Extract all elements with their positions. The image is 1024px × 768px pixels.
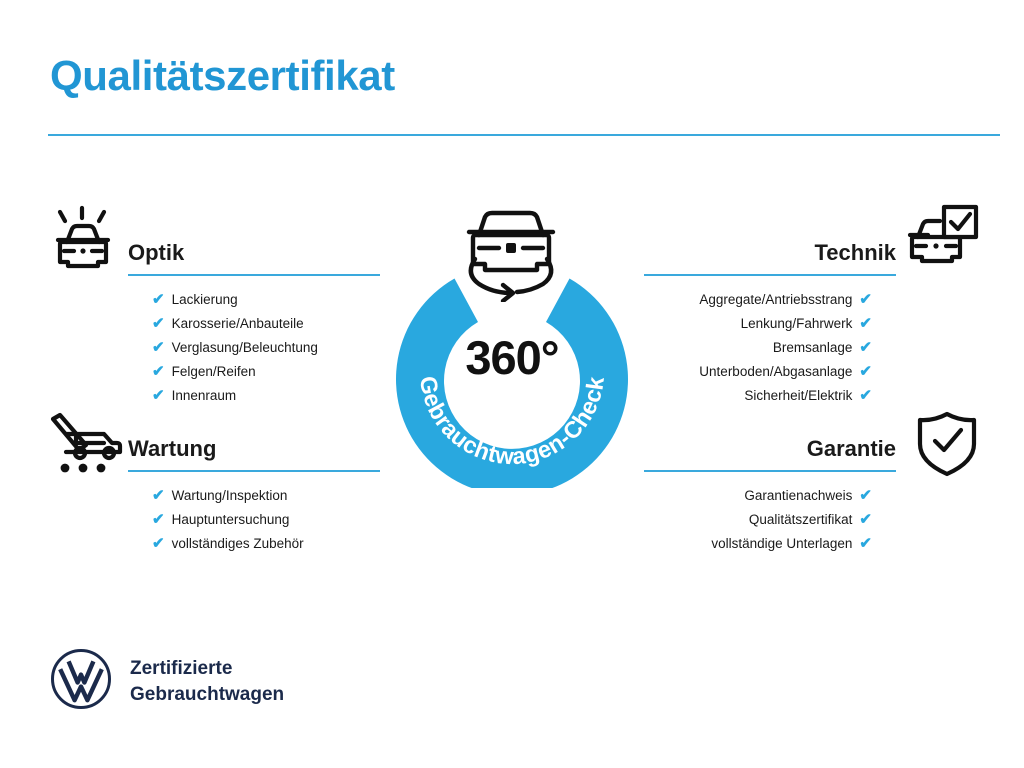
list-item-label: Aggregate/Antriebsstrang (699, 288, 852, 312)
check-icon: ✔ (859, 384, 872, 408)
check-icon: ✔ (152, 360, 165, 384)
list-item: ✔Hauptuntersuchung (152, 508, 380, 532)
car-rotation-icon (455, 198, 567, 307)
car-service-wrench-icon (46, 412, 124, 481)
check-icon: ✔ (152, 336, 165, 360)
car-shine-icon (46, 204, 120, 279)
header-divider (48, 134, 1000, 136)
car-checkbox-icon (906, 203, 980, 274)
list-item-label: Garantienachweis (744, 484, 852, 508)
list-item: Garantienachweis✔ (644, 484, 872, 508)
check-icon: ✔ (152, 384, 165, 408)
list-item-label: Wartung/Inspektion (172, 484, 288, 508)
section-divider (128, 470, 380, 472)
list-item-label: vollständiges Zubehör (172, 532, 304, 556)
check-icon: ✔ (152, 288, 165, 312)
checklist-wartung: ✔Wartung/Inspektion ✔Hauptuntersuchung ✔… (128, 484, 380, 556)
checklist-garantie: Garantienachweis✔ Qualitätszertifikat✔ v… (644, 484, 896, 556)
footer-line-1: Zertifizierte (130, 658, 232, 679)
footer: Zertifizierte Gebrauchtwagen (50, 648, 284, 715)
section-wartung: Wartung ✔Wartung/Inspektion ✔Hauptunters… (128, 428, 380, 556)
list-item-label: Lackierung (172, 288, 238, 312)
list-item-label: Sicherheit/Elektrik (744, 384, 852, 408)
section-title: Technik (814, 240, 896, 266)
section-header: Optik (128, 232, 380, 276)
shield-check-icon (916, 410, 978, 483)
section-header: Wartung (128, 428, 380, 472)
list-item: ✔Wartung/Inspektion (152, 484, 380, 508)
list-item: Qualitätszertifikat✔ (644, 508, 872, 532)
checklist-optik: ✔Lackierung ✔Karosserie/Anbauteile ✔Verg… (128, 288, 380, 408)
list-item: ✔Karosserie/Anbauteile (152, 312, 380, 336)
list-item: Unterboden/Abgasanlage✔ (644, 360, 872, 384)
check-icon: ✔ (859, 288, 872, 312)
list-item-label: Qualitätszertifikat (749, 508, 853, 532)
section-optik: Optik ✔Lackierung ✔Karosserie/Anbauteile… (128, 232, 380, 408)
list-item: Lenkung/Fahrwerk✔ (644, 312, 872, 336)
check-icon: ✔ (859, 484, 872, 508)
list-item: vollständige Unterlagen✔ (644, 532, 872, 556)
certificate-page: Qualitätszertifikat (0, 0, 1024, 768)
section-divider (644, 470, 896, 472)
list-item: ✔Innenraum (152, 384, 380, 408)
check-icon: ✔ (859, 312, 872, 336)
check-icon: ✔ (859, 360, 872, 384)
check-icon: ✔ (859, 532, 872, 556)
list-item: Bremsanlage✔ (644, 336, 872, 360)
list-item-label: Hauptuntersuchung (172, 508, 290, 532)
section-title: Wartung (128, 436, 216, 462)
list-item-label: Verglasung/Beleuchtung (172, 336, 318, 360)
list-item-label: Karosserie/Anbauteile (172, 312, 304, 336)
list-item-label: Felgen/Reifen (172, 360, 256, 384)
footer-text-block: Zertifizierte Gebrauchtwagen (130, 656, 284, 708)
list-item-label: Unterboden/Abgasanlage (699, 360, 852, 384)
list-item: ✔Felgen/Reifen (152, 360, 380, 384)
section-divider (644, 274, 896, 276)
list-item: ✔vollständiges Zubehör (152, 532, 380, 556)
check-icon: ✔ (152, 312, 165, 336)
check-icon: ✔ (152, 484, 165, 508)
page-title: Qualitätszertifikat (50, 52, 395, 100)
section-header: Technik (644, 232, 896, 276)
list-item: Aggregate/Antriebsstrang✔ (644, 288, 872, 312)
footer-line-2: Gebrauchtwagen (130, 684, 284, 705)
list-item: ✔Lackierung (152, 288, 380, 312)
vw-logo (50, 648, 112, 715)
check-icon: ✔ (152, 508, 165, 532)
section-divider (128, 274, 380, 276)
section-garantie: Garantie Garantienachweis✔ Qualitätszert… (644, 428, 896, 556)
list-item-label: vollständige Unterlagen (711, 532, 852, 556)
check-icon: ✔ (859, 508, 872, 532)
list-item-label: Innenraum (172, 384, 237, 408)
check-icon: ✔ (859, 336, 872, 360)
section-title: Garantie (807, 436, 896, 462)
section-header: Garantie (644, 428, 896, 472)
list-item: Sicherheit/Elektrik✔ (644, 384, 872, 408)
section-technik: Technik Aggregate/Antriebsstrang✔ Lenkun… (644, 232, 896, 408)
list-item: ✔Verglasung/Beleuchtung (152, 336, 380, 360)
check-icon: ✔ (152, 532, 165, 556)
section-title: Optik (128, 240, 184, 266)
checklist-technik: Aggregate/Antriebsstrang✔ Lenkung/Fahrwe… (644, 288, 896, 408)
list-item-label: Lenkung/Fahrwerk (741, 312, 853, 336)
badge-value: 360° (376, 330, 648, 385)
list-item-label: Bremsanlage (773, 336, 853, 360)
